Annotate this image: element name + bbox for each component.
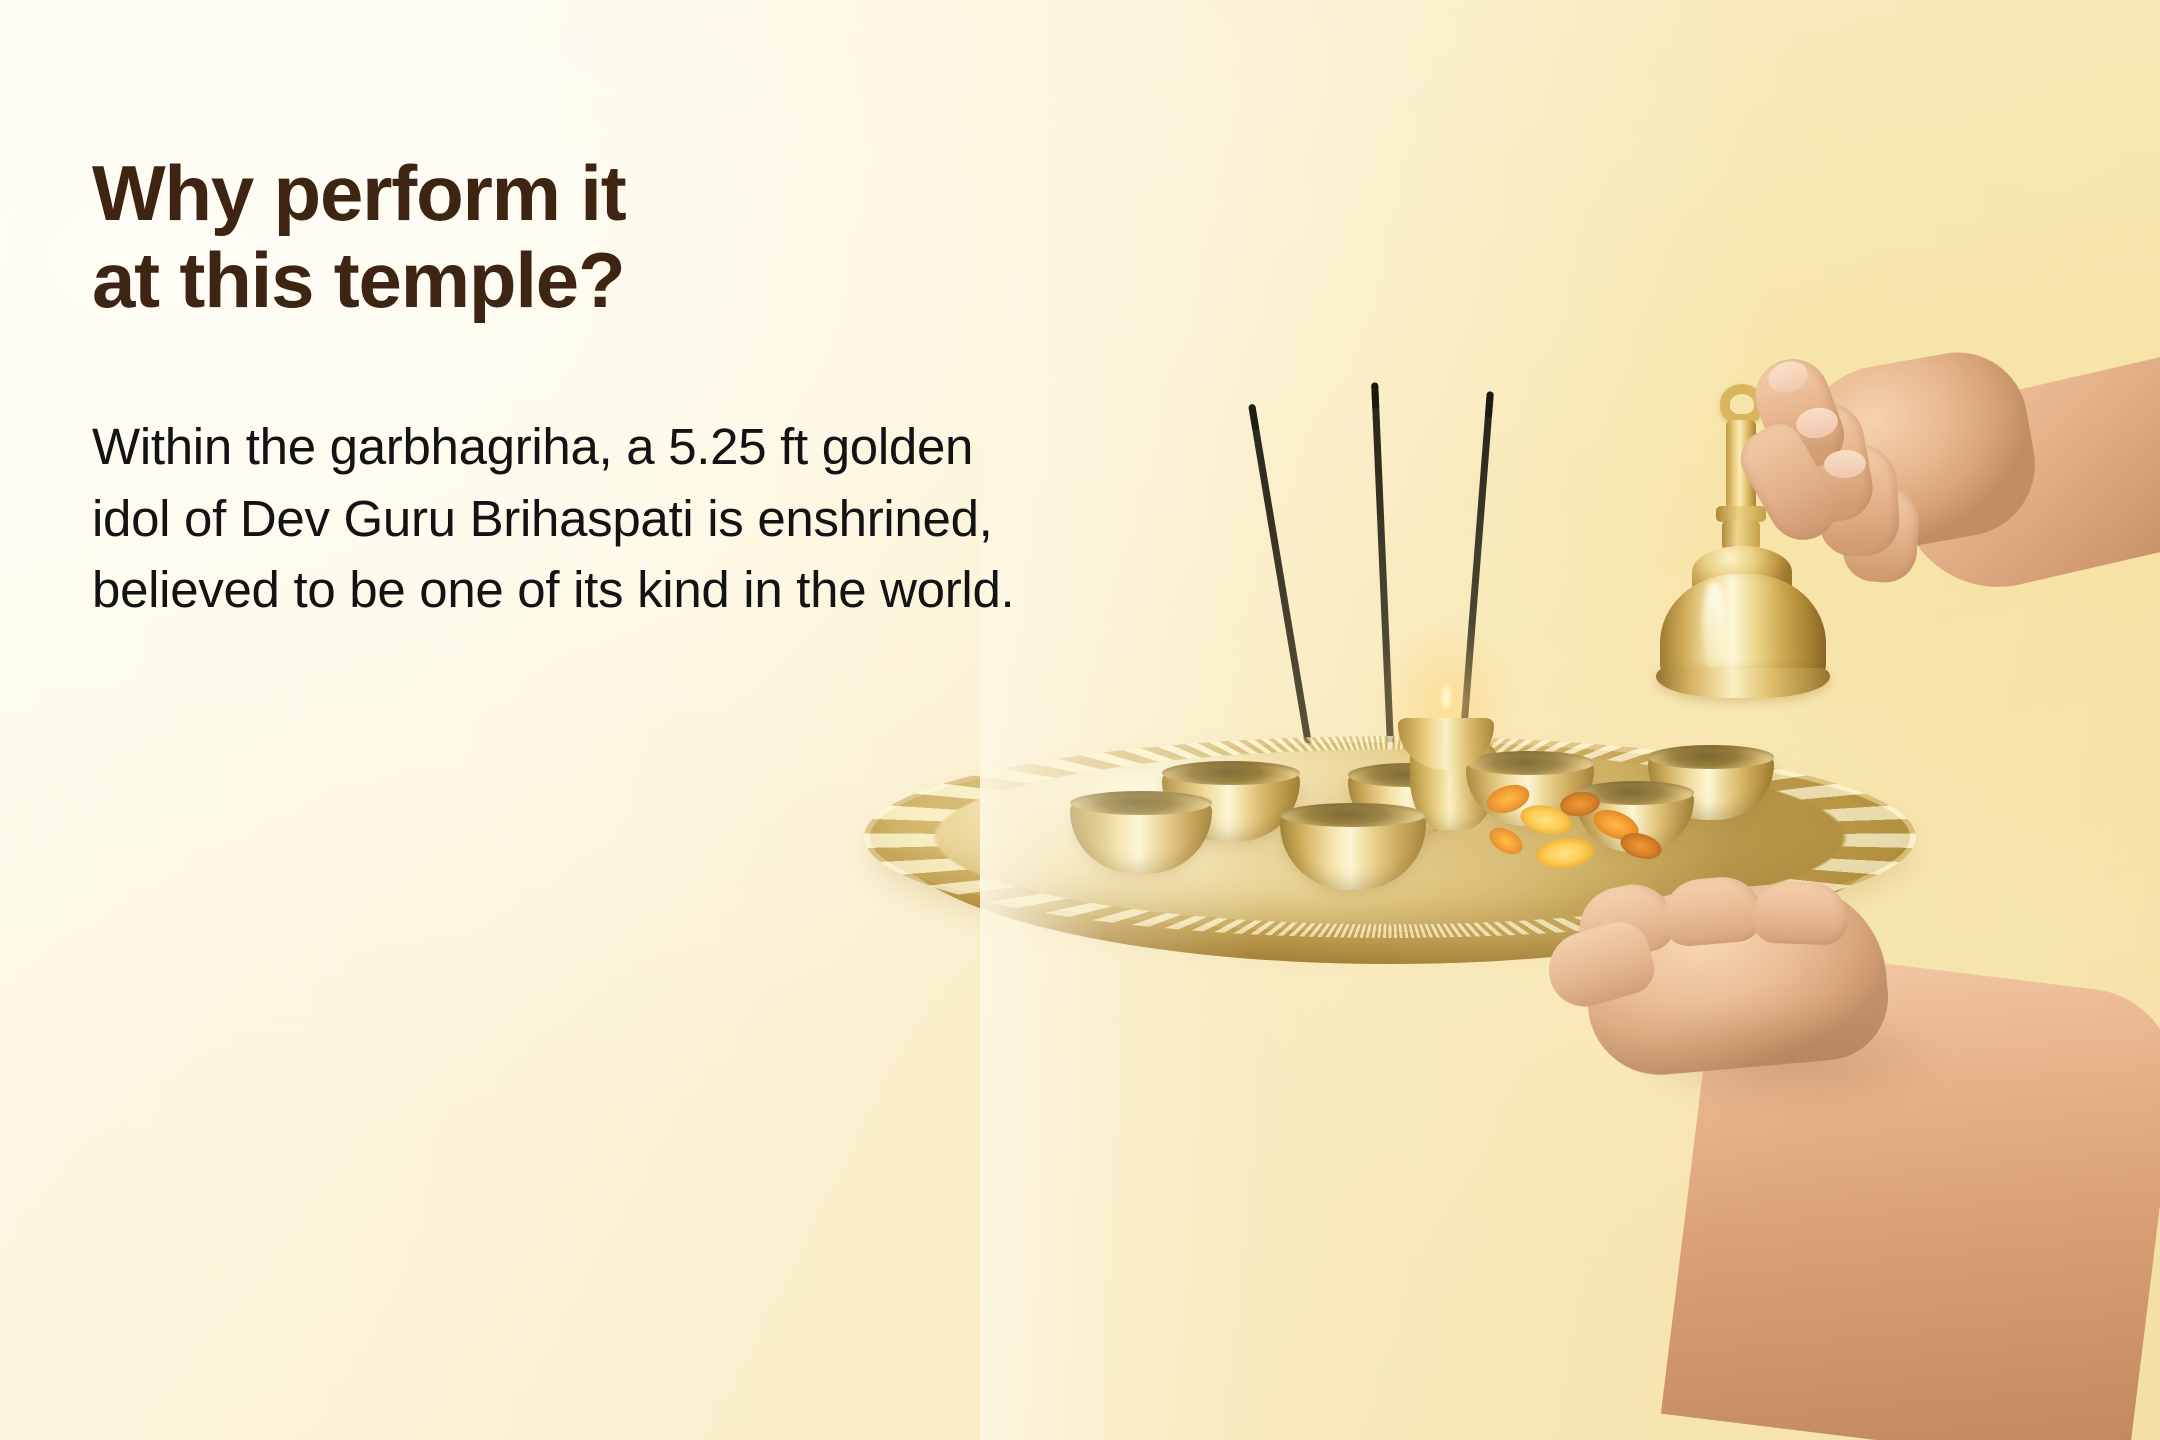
slide-canvas: Why perform it at this temple? Within th…: [0, 0, 2160, 1440]
puja-photo: [980, 0, 2160, 1440]
text-column: Why perform it at this temple? Within th…: [92, 150, 1092, 625]
wrist-shadow: [1628, 1004, 1948, 1114]
finger: [1751, 880, 1849, 945]
page-title: Why perform it at this temple?: [92, 150, 1092, 323]
hand-holding-bell: [1698, 316, 2160, 746]
body-paragraph: Within the garbhagriha, a 5.25 ft golden…: [92, 411, 1037, 625]
flame-core: [1439, 680, 1453, 714]
hand-holding-thali: [1438, 884, 2160, 1440]
finger: [1659, 874, 1764, 948]
